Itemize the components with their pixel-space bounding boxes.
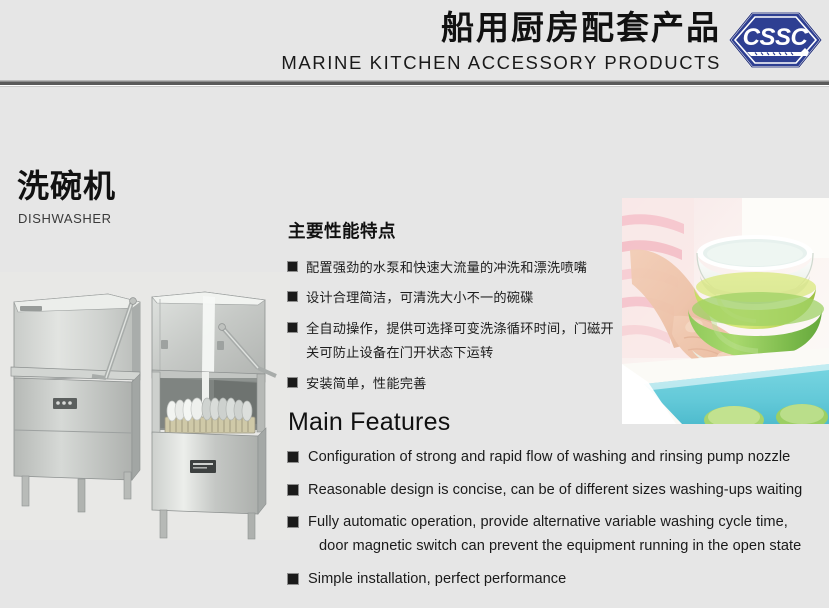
header-title-english: MARINE KITCHEN ACCESSORY PRODUCTS — [101, 52, 721, 74]
list-item-text: Simple installation, perfect performance — [308, 571, 566, 587]
chinese-features-section: 主要性能特点 配置强劲的水泵和快速大流量的冲洗和漂洗喷嘴 设计合理简洁，可清洗大… — [288, 218, 618, 402]
bullet-square-icon — [288, 485, 298, 495]
list-item: 安装简单，性能完善 — [288, 372, 618, 396]
cssc-logo-icon: CSSC — [729, 12, 822, 68]
list-item: Configuration of strong and rapid flow o… — [288, 446, 829, 470]
list-item: Simple installation, perfect performance — [288, 568, 829, 592]
bullet-square-icon — [288, 517, 298, 527]
english-features-heading: Main Features — [288, 408, 829, 437]
page-header: 船用厨房配套产品 MARINE KITCHEN ACCESSORY PRODUC… — [0, 0, 829, 82]
list-item: 设计合理简洁，可清洗大小不一的碗碟 — [288, 286, 618, 310]
cssc-logo: CSSC — [729, 12, 822, 68]
svg-text:CSSC: CSSC — [743, 24, 809, 51]
list-item-text: Fully automatic operation, provide alter… — [308, 514, 788, 530]
bullet-square-icon — [288, 292, 297, 301]
list-item-text: 全自动操作，提供可选择可变洗涤循环时间，门磁开关可防止设备在门开状态下运转 — [306, 321, 614, 360]
header-divider — [0, 80, 829, 87]
bullet-square-icon — [288, 452, 298, 462]
bullet-square-icon — [288, 323, 297, 332]
dishes-photo — [622, 198, 829, 424]
bowls-photo-illustration — [622, 198, 829, 424]
chinese-features-list: 配置强劲的水泵和快速大流量的冲洗和漂洗喷嘴 设计合理简洁，可清洗大小不一的碗碟 … — [288, 256, 618, 396]
list-item: 全自动操作，提供可选择可变洗涤循环时间，门磁开关可防止设备在门开状态下运转 — [288, 317, 618, 366]
list-item-text: 设计合理简洁，可清洗大小不一的碗碟 — [306, 290, 534, 305]
bullet-square-icon — [288, 378, 297, 387]
list-item-text-continued: door magnetic switch can prevent the equ… — [308, 535, 829, 559]
chinese-features-heading: 主要性能特点 — [288, 218, 618, 243]
list-item-text: 安装简单，性能完善 — [306, 376, 427, 391]
list-item-text: Configuration of strong and rapid flow o… — [308, 449, 790, 465]
list-item: 配置强劲的水泵和快速大流量的冲洗和漂洗喷嘴 — [288, 256, 618, 280]
dishwasher-photo-illustration — [0, 272, 290, 540]
product-name-chinese: 洗碗机 — [17, 168, 116, 205]
product-name-english: DISHWASHER — [18, 211, 116, 226]
bullet-square-icon — [288, 262, 297, 271]
list-item-text: Reasonable design is concise, can be of … — [308, 482, 802, 498]
product-photo — [0, 272, 290, 540]
list-item: Fully automatic operation, provide alter… — [288, 511, 829, 558]
header-titles: 船用厨房配套产品 MARINE KITCHEN ACCESSORY PRODUC… — [101, 8, 721, 74]
list-item: Reasonable design is concise, can be of … — [288, 479, 829, 503]
english-features-section: Main Features Configuration of strong an… — [288, 408, 829, 600]
english-features-list: Configuration of strong and rapid flow o… — [288, 446, 829, 591]
header-title-chinese: 船用厨房配套产品 — [101, 8, 721, 48]
bullet-square-icon — [288, 574, 298, 584]
product-title-block: 洗碗机 DISHWASHER — [17, 168, 116, 226]
list-item-text: 配置强劲的水泵和快速大流量的冲洗和漂洗喷嘴 — [306, 260, 587, 275]
